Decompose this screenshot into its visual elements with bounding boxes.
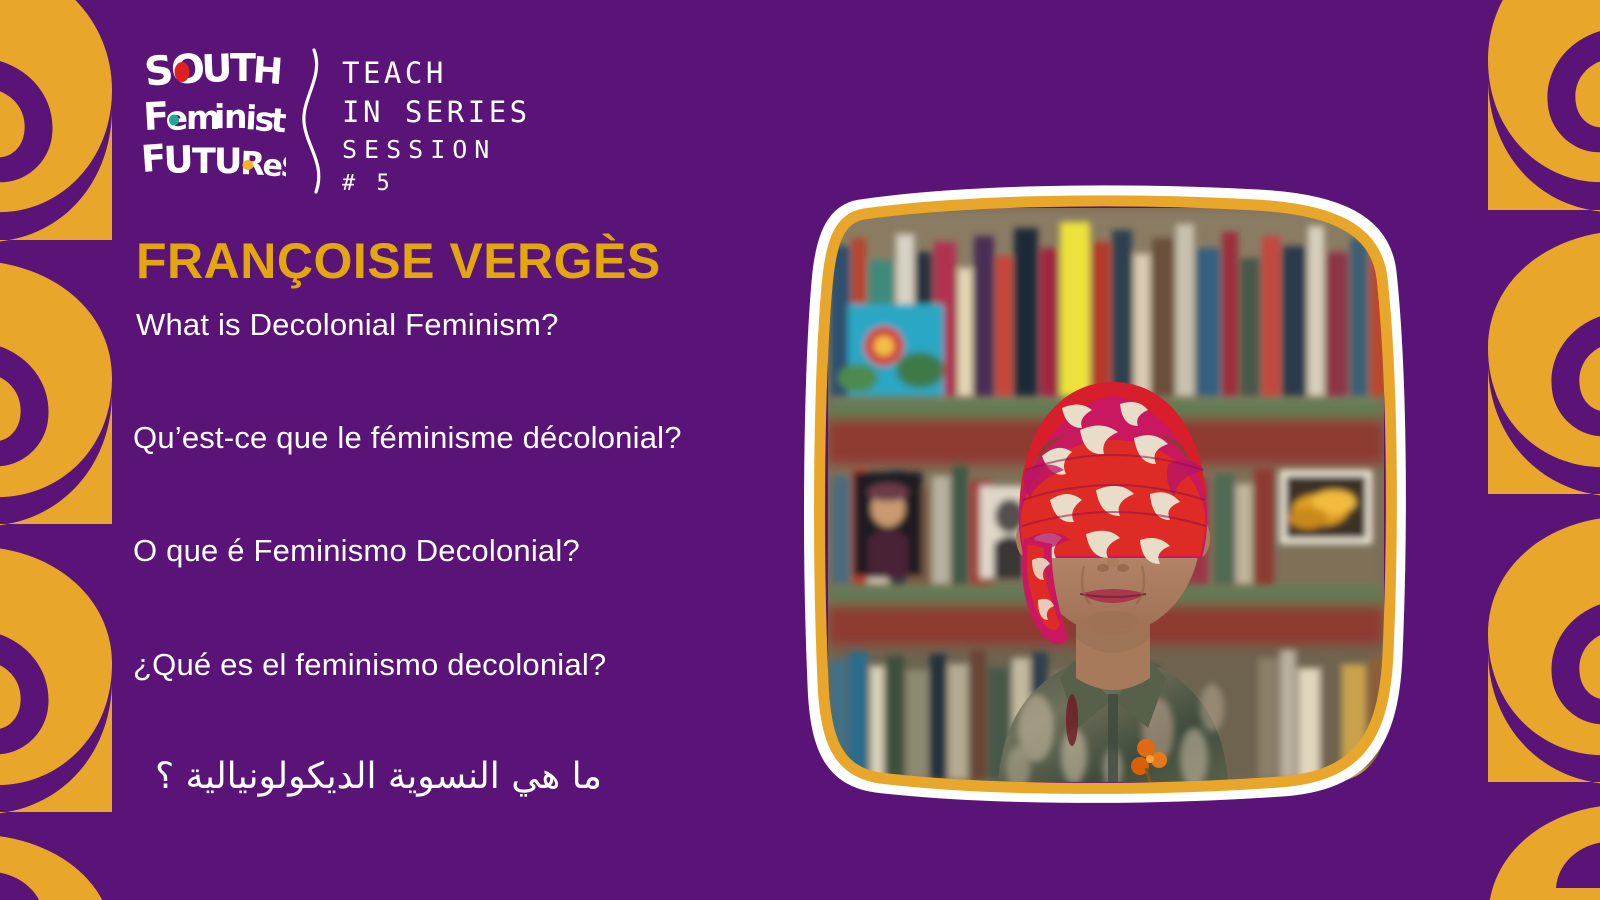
speaker-name: FRANÇOISE VERGÈS xyxy=(136,232,661,290)
svg-text:U: U xyxy=(163,138,195,182)
poster-canvas: S O U T H F e m i n i s t F U xyxy=(0,0,1600,900)
question-french: Qu’est-ce que le féminisme décolonial? xyxy=(133,419,833,456)
series-line-teach: TEACH xyxy=(342,54,531,93)
photo-frame-border xyxy=(806,186,1406,804)
logo-dot-yellow xyxy=(243,160,254,170)
series-line-session: SESSION xyxy=(342,131,531,169)
svg-text:H: H xyxy=(251,50,283,93)
question-english: What is Decolonial Feminism? xyxy=(136,306,833,343)
svg-text:t: t xyxy=(269,100,286,140)
logo-dot-teal xyxy=(169,115,179,126)
south-feminist-futures-logo[interactable]: S O U T H F e m i n i s t F U xyxy=(138,42,286,182)
header-logo-row: S O U T H F e m i n i s t F U xyxy=(138,42,531,199)
question-list: What is Decolonial Feminism? Qu’est-ce q… xyxy=(133,300,833,798)
series-label-block: TEACH IN SERIES SESSION # 5 xyxy=(342,54,531,199)
series-line-number: # 5 xyxy=(342,169,531,200)
series-line-in-series: IN SERIES xyxy=(342,93,531,132)
spiral-border-right xyxy=(1482,0,1600,900)
svg-text:T: T xyxy=(192,142,216,182)
svg-text:U: U xyxy=(201,46,232,91)
wavy-divider-icon xyxy=(290,46,336,196)
speaker-portrait xyxy=(806,186,1406,804)
question-arabic: ما هي النسوية الديكولونيالية ؟ xyxy=(155,755,833,798)
svg-text:U: U xyxy=(214,142,242,182)
spiral-border-left xyxy=(0,0,118,900)
question-portuguese: O que é Feminismo Decolonial? xyxy=(133,532,833,569)
question-spanish: ¿Qué es el feminismo decolonial? xyxy=(133,646,833,683)
logo-dot-red xyxy=(175,62,190,82)
